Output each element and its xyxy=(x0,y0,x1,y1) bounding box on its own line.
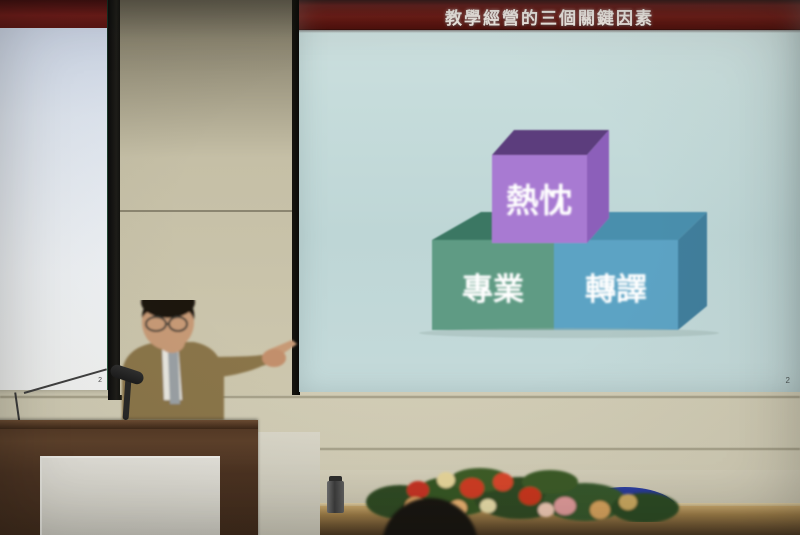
podium xyxy=(0,420,258,535)
speaker-tie xyxy=(168,352,180,404)
cube-label-top: 熱忱 xyxy=(506,182,572,219)
lecture-hall-screenshot: 2 教學經營的三個關鍵因素 xyxy=(0,0,800,535)
wall-column-seam xyxy=(120,210,298,212)
thermos-bottle xyxy=(327,481,344,513)
podium-side-surface xyxy=(258,432,320,535)
podium-front-panel xyxy=(40,456,220,535)
main-projection-screen: 教學經營的三個關鍵因素 xyxy=(299,0,800,392)
podium-top-edge xyxy=(0,420,258,429)
secondary-screen-title-bar xyxy=(0,0,110,28)
cube-label-bottom-right: 轉譯 xyxy=(585,272,647,307)
three-cube-diagram: 熱忱 專業 轉譯 xyxy=(299,0,800,392)
slide-page-number: 2 xyxy=(786,376,790,385)
cube-label-bottom-left: 專業 xyxy=(462,272,524,307)
